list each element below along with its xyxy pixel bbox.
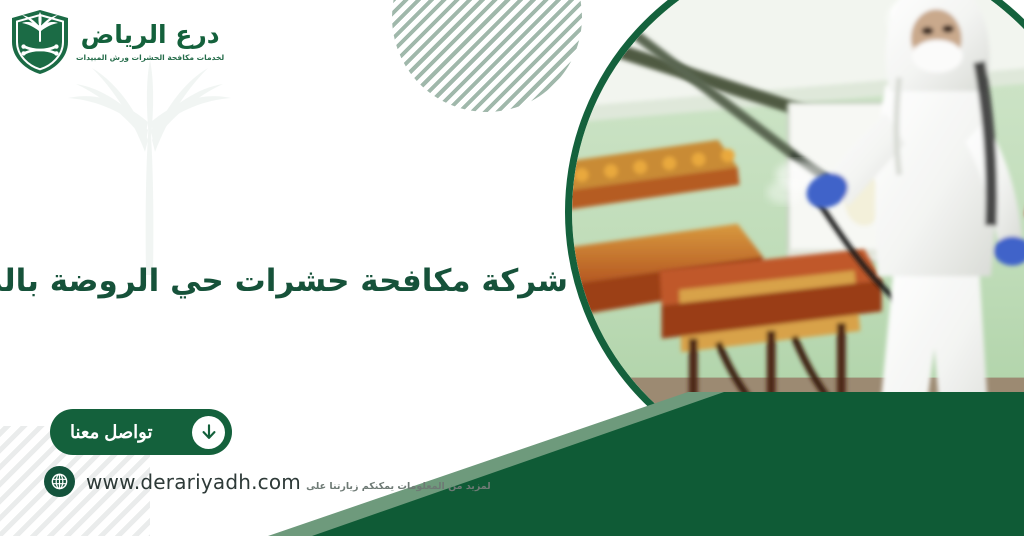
brand-logo-subtitle: لخدمات مكافحة الحشرات ورش المبيدات xyxy=(76,53,224,62)
brand-logo[interactable]: درع الرياض لخدمات مكافحة الحشرات ورش الم… xyxy=(8,4,193,80)
brand-logo-text: درع الرياض لخدمات مكافحة الحشرات ورش الم… xyxy=(76,22,224,63)
website-note: لمزيد من المعلومات يمكنكم زيارتنا على xyxy=(306,481,491,492)
website-footer[interactable]: لمزيد من المعلومات يمكنكم زيارتنا على ww… xyxy=(44,466,491,497)
brand-logo-title: درع الرياض xyxy=(81,20,220,49)
striped-semicircle-decoration xyxy=(392,0,582,112)
website-url[interactable]: www.derariyadh.com xyxy=(86,470,301,494)
page-title: شركة مكافحة حشرات حي الروضة بالرياض xyxy=(0,261,568,303)
arrow-down-icon xyxy=(192,416,225,449)
promo-banner: درع الرياض لخدمات مكافحة الحشرات ورش الم… xyxy=(0,0,1024,536)
website-text-block: لمزيد من المعلومات يمكنكم زيارتنا على ww… xyxy=(86,472,491,492)
pest-control-worker-photo xyxy=(565,0,1024,482)
contact-us-label: تواصل معنا xyxy=(70,423,152,441)
palm-tree-watermark xyxy=(42,60,257,290)
saudi-emblem-shield-icon xyxy=(8,8,72,76)
globe-icon xyxy=(44,466,75,497)
contact-us-button[interactable]: تواصل معنا xyxy=(50,409,232,455)
